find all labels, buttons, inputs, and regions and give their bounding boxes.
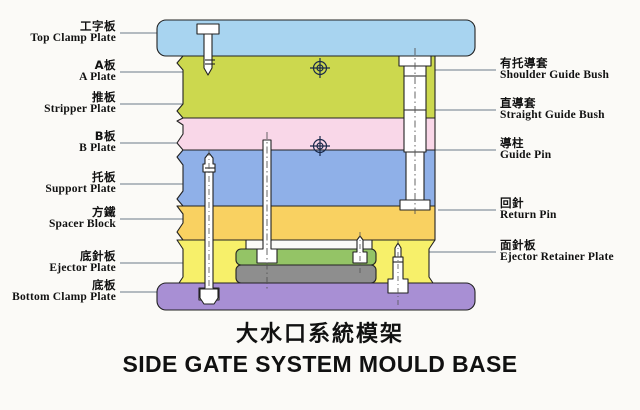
label-ejector-retainer-plate: 面針板 Ejector Retainer Plate: [500, 239, 640, 263]
label-guide-pin-cn: 導柱: [500, 137, 640, 149]
plate-ejector-plate: [236, 265, 376, 283]
label-stripper-plate-cn: 推板: [0, 91, 116, 103]
bottom-screw-left: [200, 289, 218, 304]
label-a-plate-cn: A板: [0, 59, 116, 71]
label-bottom-clamp-plate: 底板 Bottom Clamp Plate: [0, 279, 116, 303]
label-guide-pin-en: Guide Pin: [500, 149, 640, 161]
label-a-plate: A板 A Plate: [0, 59, 116, 83]
label-ejector-plate: 底針板 Ejector Plate: [0, 250, 116, 274]
plate-b-plate: [177, 150, 435, 206]
label-return-pin: 回針 Return Pin: [500, 197, 640, 221]
label-bottom-clamp-plate-en: Bottom Clamp Plate: [0, 291, 116, 303]
label-spacer-block-en: Spacer Block: [0, 218, 116, 230]
label-ejector-retainer-plate-en: Ejector Retainer Plate: [500, 251, 640, 263]
label-bottom-clamp-plate-cn: 底板: [0, 279, 116, 291]
label-stripper-plate: 推板 Stripper Plate: [0, 91, 116, 115]
label-top-clamp-plate-cn: 工字板: [0, 20, 116, 32]
plate-support-plate: [177, 206, 435, 240]
diagram-title: 大水口系統模架 SIDE GATE SYSTEM MOULD BASE: [0, 316, 640, 378]
label-support-plate: 托板 Support Plate: [0, 171, 116, 195]
diagram-title-en: SIDE GATE SYSTEM MOULD BASE: [0, 351, 640, 378]
label-shoulder-guide-bush-cn: 有托導套: [500, 57, 640, 69]
label-b-plate: B板 B Plate: [0, 130, 116, 154]
label-b-plate-cn: B板: [0, 130, 116, 142]
label-shoulder-guide-bush: 有托導套 Shoulder Guide Bush: [500, 57, 640, 81]
label-ejector-plate-cn: 底針板: [0, 250, 116, 262]
label-shoulder-guide-bush-en: Shoulder Guide Bush: [500, 69, 640, 81]
diagram-title-cn: 大水口系統模架: [0, 316, 640, 348]
label-ejector-retainer-plate-cn: 面針板: [500, 239, 640, 251]
label-guide-pin: 導柱 Guide Pin: [500, 137, 640, 161]
label-spacer-block-cn: 方鐵: [0, 206, 116, 218]
label-top-clamp-plate-en: Top Clamp Plate: [0, 32, 116, 44]
label-top-clamp-plate: 工字板 Top Clamp Plate: [0, 20, 116, 44]
label-support-plate-en: Support Plate: [0, 183, 116, 195]
label-straight-guide-bush-en: Straight Guide Bush: [500, 109, 640, 121]
label-stripper-plate-en: Stripper Plate: [0, 103, 116, 115]
label-b-plate-en: B Plate: [0, 142, 116, 154]
label-return-pin-cn: 回針: [500, 197, 640, 209]
label-support-plate-cn: 托板: [0, 171, 116, 183]
label-return-pin-en: Return Pin: [500, 209, 640, 221]
label-straight-guide-bush: 直導套 Straight Guide Bush: [500, 97, 640, 121]
plate-a-plate: [177, 56, 435, 118]
label-spacer-block: 方鐵 Spacer Block: [0, 206, 116, 230]
label-a-plate-en: A Plate: [0, 71, 116, 83]
diagram-canvas: 工字板 Top Clamp Plate A板 A Plate 推板 Stripp…: [0, 0, 640, 410]
label-ejector-plate-en: Ejector Plate: [0, 262, 116, 274]
plate-stripper-plate: [177, 118, 435, 150]
label-straight-guide-bush-cn: 直導套: [500, 97, 640, 109]
